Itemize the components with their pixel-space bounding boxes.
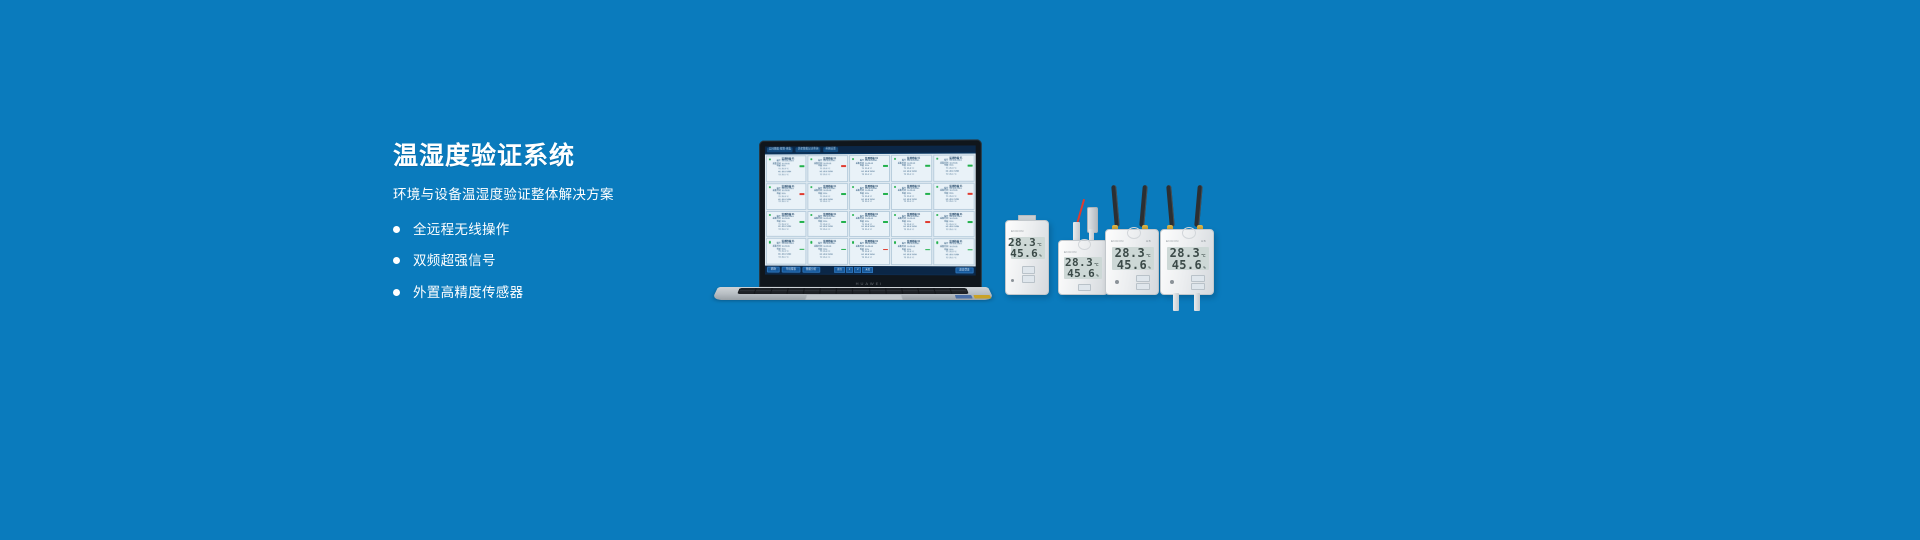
monitor-card-field: T225.1 °C — [897, 173, 930, 176]
monitor-card-field: T225.1 °C — [813, 257, 846, 260]
field-label: T2 — [897, 201, 906, 204]
spec-sticker — [955, 295, 973, 299]
status-led-icon — [936, 158, 938, 160]
monitor-card-field: T225.1 °C — [855, 174, 888, 177]
monitor-card-field: T225.1 °C — [855, 229, 888, 232]
monitor-card[interactable]: 监测终端 01编号SN 001-0001采集时间10:23:05电量95%T12… — [766, 183, 806, 210]
field-label: T2 — [772, 229, 781, 232]
status-badge — [799, 221, 804, 223]
feature-label: 全远程无线操作 — [413, 223, 510, 237]
status-badge — [883, 193, 888, 195]
laptop-trackpad[interactable] — [805, 295, 903, 300]
page-last-button[interactable]: 末页 — [862, 267, 873, 273]
device-brand-label: ENCON — [1166, 239, 1179, 243]
external-probe-right — [1194, 293, 1200, 311]
field-value: 25.1 °C — [907, 229, 930, 232]
monitor-card-field: T225.1 °C — [772, 201, 805, 204]
status-badge — [968, 165, 973, 167]
device-button-down[interactable] — [1136, 283, 1150, 290]
tab-history[interactable]: 历史数据记录查询 — [796, 147, 820, 152]
status-badge — [841, 249, 846, 251]
app-footer: 刷新 导出报表 数据分析 首页 1 2 末页 退出登录 — [765, 266, 976, 275]
analysis-button[interactable]: 数据分析 — [802, 266, 820, 273]
status-badge — [968, 249, 973, 251]
field-label: T2 — [939, 257, 948, 260]
status-badge — [799, 166, 804, 168]
humidity-reading: 45.6% — [1010, 248, 1042, 259]
list-item: 双频超强信号 — [393, 254, 723, 268]
status-badge — [883, 221, 888, 223]
status-badge — [968, 221, 973, 223]
field-label: T2 — [813, 201, 822, 204]
led-indicator-icon — [1011, 279, 1014, 282]
status-led-icon — [894, 186, 896, 188]
device-button-up[interactable] — [1078, 284, 1091, 291]
hanger-hole-icon — [1182, 227, 1196, 239]
monitor-card[interactable]: 监测终端 01编号SN 001-0001采集时间10:23:05电量95%T12… — [766, 155, 806, 182]
monitor-card[interactable]: 监测终端 01编号SN 001-0001采集时间10:23:05电量95%T12… — [933, 155, 974, 182]
field-label: T2 — [939, 173, 948, 176]
device-lcd-display: 28.3℃ 45.6% — [1064, 257, 1102, 279]
device-lcd-display: 28.3℃ 45.6% — [1167, 247, 1209, 270]
status-led-icon — [894, 213, 896, 215]
antenna-left-icon — [1166, 185, 1175, 227]
field-value: 25.1 °C — [782, 229, 805, 232]
monitor-card-field: T225.1 °C — [939, 257, 972, 260]
laptop-base — [712, 287, 994, 300]
bullet-dot-icon — [393, 226, 400, 233]
humidity-reading: 45.6% — [1117, 259, 1151, 271]
field-label: T2 — [813, 257, 822, 260]
device-model-label: HB — [1201, 239, 1206, 243]
promo-banner: 温湿度验证系统 环境与设备温湿度验证整体解决方案 全远程无线操作 双频超强信号 … — [0, 0, 1920, 540]
hero-text-block: 温湿度验证系统 环境与设备温湿度验证整体解决方案 全远程无线操作 双频超强信号 … — [393, 143, 723, 317]
device-transmitter-d: ENCON HB 28.3℃ 45.6% — [1160, 185, 1214, 313]
status-badge — [883, 249, 888, 251]
status-led-icon — [768, 158, 770, 160]
device-lcd-display: 28.3℃ 45.6% — [1112, 247, 1154, 270]
status-badge — [799, 193, 804, 195]
temperature-reading: 28.3℃ — [1170, 247, 1206, 259]
status-led-icon — [936, 186, 938, 188]
external-probe-left — [1173, 293, 1179, 311]
status-led-icon — [810, 214, 812, 216]
field-label: T2 — [855, 201, 864, 204]
monitor-card[interactable]: 监测终端 01编号SN 001-0001采集时间10:23:05电量95%T12… — [849, 210, 890, 237]
field-label: T2 — [897, 229, 906, 232]
monitor-card[interactable]: 监测终端 01编号SN 001-0001采集时间10:23:05电量95%T12… — [933, 238, 974, 265]
humidity-reading: 45.6% — [1067, 268, 1099, 279]
pagination: 首页 1 2 末页 — [834, 267, 873, 274]
monitor-card-field: T225.1 °C — [772, 257, 805, 260]
status-badge — [841, 221, 846, 223]
device-brand-label: ENCON — [1064, 250, 1077, 254]
bullet-dot-icon — [393, 289, 400, 296]
status-led-icon — [936, 213, 938, 215]
status-badge — [968, 193, 973, 195]
list-item: 全远程无线操作 — [393, 223, 723, 237]
device-button-up[interactable] — [1136, 275, 1150, 282]
monitor-card[interactable]: 监测终端 01编号SN 001-0001采集时间10:23:05电量95%T12… — [766, 238, 806, 265]
device-button-down[interactable] — [1191, 283, 1205, 290]
field-value: 25.1 °C — [782, 201, 805, 204]
field-label: T2 — [813, 174, 822, 177]
field-label: T2 — [772, 201, 781, 204]
status-badge — [925, 193, 930, 195]
status-led-icon — [810, 186, 812, 188]
field-value: 25.1 °C — [949, 257, 972, 260]
laptop-screen: 实时数据·报警·采集 历史数据记录查询 系统设置 监测终端 01编号SN 001… — [765, 145, 976, 275]
page-subtitle: 环境与设备温湿度验证整体解决方案 — [393, 187, 723, 203]
led-indicator-icon — [1170, 280, 1174, 284]
monitor-card[interactable]: 监测终端 01编号SN 001-0001采集时间10:23:05电量95%T12… — [933, 183, 974, 210]
device-model-label: HB — [1146, 239, 1151, 243]
tab-realtime[interactable]: 实时数据·报警·采集 — [767, 148, 793, 153]
monitor-card[interactable]: 监测终端 01编号SN 001-0001采集时间10:23:05电量95%T12… — [849, 183, 890, 210]
logout-button[interactable]: 退出登录 — [955, 267, 974, 274]
status-badge — [883, 165, 888, 167]
page-2-button[interactable]: 2 — [854, 267, 861, 273]
brand-sticker — [973, 295, 991, 299]
humidity-reading: 45.6% — [1172, 259, 1206, 271]
device-body: ENCON HB 28.3℃ 45.6% — [1160, 229, 1214, 295]
monitor-card-field: T225.1 °C — [897, 229, 930, 232]
feature-label: 双频超强信号 — [413, 254, 496, 268]
field-label: T2 — [855, 257, 864, 260]
monitor-card[interactable]: 监测终端 01编号SN 001-0001采集时间10:23:05电量95%T12… — [849, 155, 890, 182]
field-value: 25.1 °C — [823, 257, 846, 260]
status-badge — [925, 165, 930, 167]
status-badge — [799, 249, 804, 251]
field-value: 25.1 °C — [949, 229, 972, 232]
monitor-card-field: T225.1 °C — [813, 229, 846, 232]
device-button-down[interactable] — [1022, 275, 1035, 283]
field-label: T2 — [855, 229, 864, 232]
list-item: 外置高精度传感器 — [393, 286, 723, 300]
status-led-icon — [810, 241, 812, 243]
field-value: 25.1 °C — [949, 201, 972, 204]
field-value: 25.1 °C — [823, 174, 846, 177]
field-label: T2 — [939, 229, 948, 232]
monitor-card[interactable]: 监测终端 01编号SN 001-0001采集时间10:23:05电量95%T12… — [933, 210, 974, 237]
monitor-card[interactable]: 监测终端 01编号SN 001-0001采集时间10:23:05电量95%T12… — [807, 155, 848, 182]
field-value: 25.1 °C — [782, 257, 805, 260]
monitor-card[interactable]: 监测终端 01编号SN 001-0001采集时间10:23:05电量95%T12… — [891, 183, 932, 210]
feature-label: 外置高精度传感器 — [413, 286, 523, 300]
monitor-card-field: T225.1 °C — [939, 173, 972, 176]
monitor-card[interactable]: 监测终端 01编号SN 001-0001采集时间10:23:05电量95%T12… — [766, 211, 806, 238]
status-led-icon — [852, 186, 854, 188]
monitor-card-field: T225.1 °C — [855, 201, 888, 204]
status-badge — [925, 221, 930, 223]
feature-list: 全远程无线操作 双频超强信号 外置高精度传感器 — [393, 223, 723, 300]
monitor-card[interactable]: 监测终端 01编号SN 001-0001采集时间10:23:05电量95%T12… — [849, 238, 890, 265]
device-body: ENCON 28.3℃ 45.6% — [1058, 240, 1108, 295]
field-label: T2 — [897, 257, 906, 260]
field-label: T2 — [813, 229, 822, 232]
laptop-lid: 实时数据·报警·采集 历史数据记录查询 系统设置 监测终端 01编号SN 001… — [759, 139, 982, 288]
status-led-icon — [768, 186, 770, 188]
page-1-button[interactable]: 1 — [846, 267, 853, 273]
field-value: 25.1 °C — [907, 201, 930, 204]
monitor-card[interactable]: 监测终端 01编号SN 001-0001采集时间10:23:05电量95%T12… — [891, 238, 932, 265]
monitor-card-field: T225.1 °C — [897, 257, 930, 260]
export-report-button[interactable]: 导出报表 — [782, 266, 800, 273]
tab-settings[interactable]: 系统设置 — [823, 147, 837, 152]
monitor-card[interactable]: 监测终端 01编号SN 001-0001采集时间10:23:05电量95%T12… — [891, 155, 932, 182]
field-label: T2 — [772, 174, 781, 177]
device-transmitter-c: ENCON HB 28.3℃ 45.6% — [1105, 185, 1159, 295]
bullet-dot-icon — [393, 257, 400, 264]
monitor-card-field: T225.1 °C — [772, 229, 805, 232]
monitor-card-field: T225.1 °C — [813, 174, 846, 177]
status-led-icon — [894, 241, 896, 243]
field-value: 25.1 °C — [782, 174, 805, 177]
refresh-button[interactable]: 刷新 — [767, 266, 780, 273]
page-first-button[interactable]: 首页 — [834, 267, 845, 273]
field-value: 25.1 °C — [907, 257, 930, 260]
monitor-card-field: T225.1 °C — [939, 201, 972, 204]
monitor-card-field: T225.1 °C — [855, 257, 888, 260]
field-label: T2 — [772, 257, 781, 260]
antenna-left-icon — [1111, 185, 1120, 227]
device-brand-label: ENCON — [1011, 229, 1024, 233]
monitor-card-field: T225.1 °C — [813, 201, 846, 204]
status-led-icon — [768, 241, 770, 243]
field-value: 25.1 °C — [949, 173, 972, 176]
temperature-reading: 28.3℃ — [1115, 247, 1151, 259]
status-led-icon — [810, 158, 812, 160]
page-title: 温湿度验证系统 — [393, 143, 723, 171]
antenna-right-icon — [1139, 185, 1148, 227]
status-led-icon — [768, 214, 770, 216]
field-value: 25.1 °C — [823, 229, 846, 232]
laptop-keyboard[interactable] — [737, 288, 969, 294]
monitor-card[interactable]: 监测终端 01编号SN 001-0001采集时间10:23:05电量95%T12… — [807, 211, 848, 238]
monitor-card-field: T225.1 °C — [772, 174, 805, 177]
device-button-up[interactable] — [1191, 275, 1205, 282]
device-lcd-display: 28.3℃ 45.6% — [1011, 237, 1045, 259]
field-label: T2 — [939, 201, 948, 204]
device-button-up[interactable] — [1022, 266, 1035, 274]
monitor-card[interactable]: 监测终端 01编号SN 001-0001采集时间10:23:05电量95%T12… — [807, 183, 848, 210]
status-led-icon — [852, 214, 854, 216]
status-led-icon — [852, 158, 854, 160]
led-indicator-icon — [1115, 280, 1119, 284]
monitor-card-field: T225.1 °C — [939, 229, 972, 232]
status-badge — [925, 249, 930, 251]
monitor-card[interactable]: 监测终端 01编号SN 001-0001采集时间10:23:05电量95%T12… — [891, 210, 932, 237]
field-value: 25.1 °C — [865, 257, 888, 260]
field-value: 25.1 °C — [907, 173, 930, 176]
status-badge — [841, 193, 846, 195]
device-logger-a: ENCON 28.3℃ 45.6% — [1005, 215, 1049, 295]
laptop-brand-label: HUAWEI — [759, 280, 982, 286]
field-value: 25.1 °C — [865, 174, 888, 177]
sensor-wire — [1076, 199, 1085, 225]
monitor-card[interactable]: 监测终端 01编号SN 001-0001采集时间10:23:05电量95%T12… — [807, 238, 848, 265]
field-value: 25.1 °C — [823, 201, 846, 204]
field-label: T2 — [897, 173, 906, 176]
device-body: ENCON 28.3℃ 45.6% — [1005, 220, 1049, 295]
field-value: 25.1 °C — [865, 229, 888, 232]
laptop-product-image: 实时数据·报警·采集 历史数据记录查询 系统设置 监测终端 01编号SN 001… — [718, 140, 988, 300]
monitor-card-field: T225.1 °C — [897, 201, 930, 204]
field-value: 25.1 °C — [865, 201, 888, 204]
field-label: T2 — [855, 174, 864, 177]
hanger-hole-icon — [1127, 227, 1141, 239]
status-led-icon — [852, 241, 854, 243]
device-brand-label: ENCON — [1111, 239, 1124, 243]
status-led-icon — [894, 158, 896, 160]
antenna-right-icon — [1194, 185, 1203, 227]
monitor-card-grid: 监测终端 01编号SN 001-0001采集时间10:23:05电量95%T12… — [765, 154, 976, 267]
hanger-hole-icon — [1078, 239, 1091, 250]
device-logger-b: ENCON 28.3℃ 45.6% — [1058, 195, 1108, 295]
status-badge — [841, 166, 846, 168]
wire-probe-stem — [1073, 222, 1080, 242]
status-led-icon — [936, 241, 938, 243]
device-body: ENCON HB 28.3℃ 45.6% — [1105, 229, 1159, 295]
